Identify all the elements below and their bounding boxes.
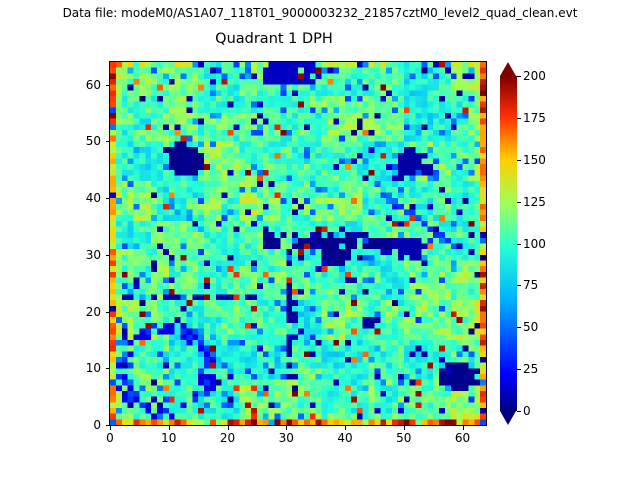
y-tick-30 xyxy=(106,255,110,256)
axes-spine-right xyxy=(486,61,487,426)
page-title: Quadrant 1 DPH xyxy=(60,30,488,48)
y-tick-0 xyxy=(106,425,110,426)
y-tick-label-30: 30 xyxy=(63,248,101,262)
matplotlib-figure: Data file: modeM0/AS1A07_118T01_90000032… xyxy=(0,0,640,480)
colorbar-tick-150 xyxy=(517,160,521,161)
colorbar-tick-100 xyxy=(517,244,521,245)
colorbar-tick-label-125: 125 xyxy=(523,195,546,209)
y-tick-label-40: 40 xyxy=(63,191,101,205)
axes-spine-bottom xyxy=(109,425,487,426)
axes-spine-left xyxy=(109,61,110,426)
colorbar-tick-label-25: 25 xyxy=(523,362,538,376)
x-tick-60 xyxy=(463,426,464,430)
colorbar-tick-label-75: 75 xyxy=(523,278,538,292)
colorbar-body xyxy=(500,76,517,411)
heatmap-image[interactable] xyxy=(110,62,486,425)
x-tick-10 xyxy=(169,426,170,430)
colorbar-tick-200 xyxy=(517,76,521,77)
x-tick-label-40: 40 xyxy=(325,431,365,445)
x-tick-label-0: 0 xyxy=(90,431,130,445)
y-tick-10 xyxy=(106,368,110,369)
colorbar-tick-label-50: 50 xyxy=(523,320,538,334)
y-tick-20 xyxy=(106,312,110,313)
y-tick-label-20: 20 xyxy=(63,305,101,319)
colorbar-tick-label-100: 100 xyxy=(523,237,546,251)
colorbar-tick-125 xyxy=(517,202,521,203)
x-tick-label-20: 20 xyxy=(208,431,248,445)
heatmap-axes[interactable] xyxy=(110,62,486,425)
colorbar-tick-label-150: 150 xyxy=(523,153,546,167)
colorbar-tick-0 xyxy=(517,411,521,412)
x-tick-30 xyxy=(286,426,287,430)
y-tick-50 xyxy=(106,141,110,142)
y-tick-label-10: 10 xyxy=(63,361,101,375)
colorbar-extend-top-arrow xyxy=(500,62,516,76)
x-tick-0 xyxy=(110,426,111,430)
axes-spine-top xyxy=(109,61,487,62)
colorbar-tick-175 xyxy=(517,118,521,119)
x-tick-20 xyxy=(228,426,229,430)
x-tick-label-10: 10 xyxy=(149,431,189,445)
y-tick-label-60: 60 xyxy=(63,78,101,92)
x-tick-label-60: 60 xyxy=(443,431,483,445)
colorbar-tick-75 xyxy=(517,285,521,286)
x-tick-label-30: 30 xyxy=(266,431,306,445)
colorbar-extend-bottom-arrow xyxy=(500,411,516,425)
colorbar-tick-label-175: 175 xyxy=(523,111,546,125)
colorbar-tick-label-0: 0 xyxy=(523,404,531,418)
y-tick-40 xyxy=(106,198,110,199)
colorbar-tick-label-200: 200 xyxy=(523,69,546,83)
y-tick-label-0: 0 xyxy=(63,418,101,432)
x-tick-40 xyxy=(345,426,346,430)
y-tick-label-50: 50 xyxy=(63,134,101,148)
colorbar-gradient xyxy=(500,76,517,411)
x-tick-label-50: 50 xyxy=(384,431,424,445)
colorbar-tick-50 xyxy=(517,327,521,328)
colorbar-tick-25 xyxy=(517,369,521,370)
y-tick-60 xyxy=(106,85,110,86)
colorbar[interactable] xyxy=(500,62,517,425)
data-file-suptitle: Data file: modeM0/AS1A07_118T01_90000032… xyxy=(0,6,640,21)
x-tick-50 xyxy=(404,426,405,430)
